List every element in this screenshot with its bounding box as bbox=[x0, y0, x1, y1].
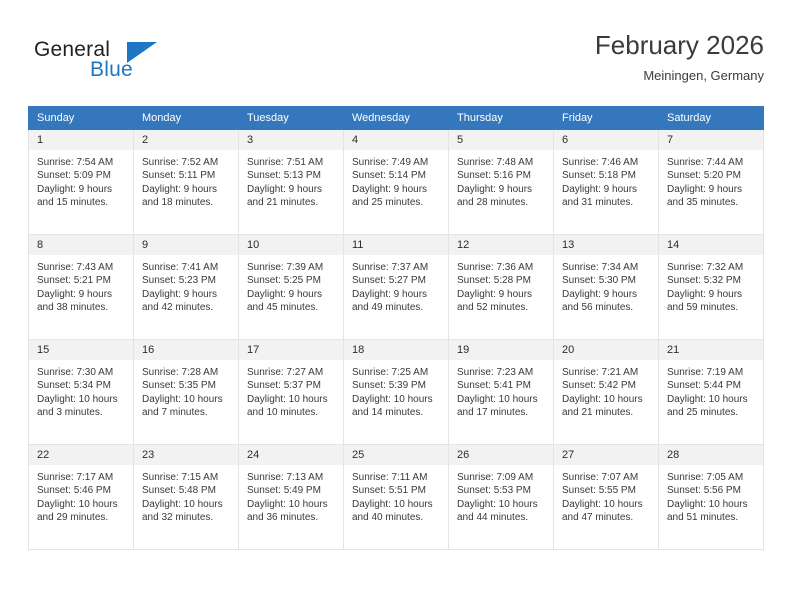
daylight-text-line2: and 38 minutes. bbox=[37, 301, 127, 314]
day-details: Sunrise: 7:09 AM Sunset: 5:53 PM Dayligh… bbox=[449, 465, 553, 525]
sunset-text: Sunset: 5:53 PM bbox=[457, 484, 547, 497]
day-number: 11 bbox=[344, 235, 448, 255]
day-details: Sunrise: 7:11 AM Sunset: 5:51 PM Dayligh… bbox=[344, 465, 448, 525]
daylight-text-line2: and 59 minutes. bbox=[667, 301, 757, 314]
day-cell[interactable]: 22 Sunrise: 7:17 AM Sunset: 5:46 PM Dayl… bbox=[29, 445, 134, 550]
day-cell[interactable]: 20 Sunrise: 7:21 AM Sunset: 5:42 PM Dayl… bbox=[554, 340, 659, 445]
daylight-text-line2: and 47 minutes. bbox=[562, 511, 652, 524]
daylight-text-line1: Daylight: 9 hours bbox=[457, 288, 547, 301]
day-cell[interactable]: 1 Sunrise: 7:54 AM Sunset: 5:09 PM Dayli… bbox=[29, 130, 134, 235]
day-details: Sunrise: 7:36 AM Sunset: 5:28 PM Dayligh… bbox=[449, 255, 553, 315]
sunrise-text: Sunrise: 7:51 AM bbox=[247, 156, 337, 169]
daylight-text-line1: Daylight: 9 hours bbox=[142, 183, 232, 196]
day-details: Sunrise: 7:17 AM Sunset: 5:46 PM Dayligh… bbox=[29, 465, 133, 525]
sunset-text: Sunset: 5:44 PM bbox=[667, 379, 757, 392]
daylight-text-line2: and 32 minutes. bbox=[142, 511, 232, 524]
calendar-header-row: Sunday Monday Tuesday Wednesday Thursday… bbox=[29, 107, 764, 130]
daylight-text-line2: and 42 minutes. bbox=[142, 301, 232, 314]
daylight-text-line2: and 25 minutes. bbox=[667, 406, 757, 419]
weekday-header-sunday: Sunday bbox=[29, 107, 134, 130]
daylight-text-line2: and 31 minutes. bbox=[562, 196, 652, 209]
weekday-header-saturday: Saturday bbox=[659, 107, 764, 130]
day-cell[interactable]: 26 Sunrise: 7:09 AM Sunset: 5:53 PM Dayl… bbox=[449, 445, 554, 550]
daylight-text-line1: Daylight: 10 hours bbox=[247, 498, 337, 511]
day-number: 8 bbox=[29, 235, 133, 255]
day-number: 25 bbox=[344, 445, 448, 465]
day-cell[interactable]: 19 Sunrise: 7:23 AM Sunset: 5:41 PM Dayl… bbox=[449, 340, 554, 445]
day-cell[interactable]: 27 Sunrise: 7:07 AM Sunset: 5:55 PM Dayl… bbox=[554, 445, 659, 550]
sunset-text: Sunset: 5:56 PM bbox=[667, 484, 757, 497]
sunrise-text: Sunrise: 7:09 AM bbox=[457, 471, 547, 484]
daylight-text-line1: Daylight: 9 hours bbox=[247, 288, 337, 301]
sunset-text: Sunset: 5:42 PM bbox=[562, 379, 652, 392]
daylight-text-line2: and 28 minutes. bbox=[457, 196, 547, 209]
day-cell[interactable]: 9 Sunrise: 7:41 AM Sunset: 5:23 PM Dayli… bbox=[134, 235, 239, 340]
sunrise-text: Sunrise: 7:41 AM bbox=[142, 261, 232, 274]
sunset-text: Sunset: 5:25 PM bbox=[247, 274, 337, 287]
day-cell[interactable]: 2 Sunrise: 7:52 AM Sunset: 5:11 PM Dayli… bbox=[134, 130, 239, 235]
day-cell[interactable]: 25 Sunrise: 7:11 AM Sunset: 5:51 PM Dayl… bbox=[344, 445, 449, 550]
weekday-header-monday: Monday bbox=[134, 107, 239, 130]
day-details: Sunrise: 7:39 AM Sunset: 5:25 PM Dayligh… bbox=[239, 255, 343, 315]
calendar-week-row: 22 Sunrise: 7:17 AM Sunset: 5:46 PM Dayl… bbox=[29, 445, 764, 550]
sunset-text: Sunset: 5:51 PM bbox=[352, 484, 442, 497]
page-header: General Blue February 2026 Meiningen, Ge… bbox=[28, 30, 764, 100]
calendar-week-row: 15 Sunrise: 7:30 AM Sunset: 5:34 PM Dayl… bbox=[29, 340, 764, 445]
page-title: February 2026 bbox=[595, 30, 764, 60]
daylight-text-line1: Daylight: 9 hours bbox=[37, 183, 127, 196]
sunset-text: Sunset: 5:11 PM bbox=[142, 169, 232, 182]
day-details: Sunrise: 7:41 AM Sunset: 5:23 PM Dayligh… bbox=[134, 255, 238, 315]
day-cell[interactable]: 24 Sunrise: 7:13 AM Sunset: 5:49 PM Dayl… bbox=[239, 445, 344, 550]
sunrise-text: Sunrise: 7:32 AM bbox=[667, 261, 757, 274]
weekday-header-tuesday: Tuesday bbox=[239, 107, 344, 130]
brand-name-blue: Blue bbox=[90, 58, 133, 82]
calendar-grid: Sunday Monday Tuesday Wednesday Thursday… bbox=[28, 106, 764, 550]
daylight-text-line2: and 51 minutes. bbox=[667, 511, 757, 524]
day-number: 4 bbox=[344, 130, 448, 150]
sunrise-text: Sunrise: 7:13 AM bbox=[247, 471, 337, 484]
sunset-text: Sunset: 5:27 PM bbox=[352, 274, 442, 287]
sunset-text: Sunset: 5:13 PM bbox=[247, 169, 337, 182]
day-cell[interactable]: 8 Sunrise: 7:43 AM Sunset: 5:21 PM Dayli… bbox=[29, 235, 134, 340]
sunrise-text: Sunrise: 7:07 AM bbox=[562, 471, 652, 484]
day-number: 12 bbox=[449, 235, 553, 255]
daylight-text-line2: and 18 minutes. bbox=[142, 196, 232, 209]
daylight-text-line1: Daylight: 9 hours bbox=[352, 183, 442, 196]
day-details: Sunrise: 7:48 AM Sunset: 5:16 PM Dayligh… bbox=[449, 150, 553, 210]
sunrise-text: Sunrise: 7:39 AM bbox=[247, 261, 337, 274]
sunrise-text: Sunrise: 7:52 AM bbox=[142, 156, 232, 169]
day-cell[interactable]: 12 Sunrise: 7:36 AM Sunset: 5:28 PM Dayl… bbox=[449, 235, 554, 340]
daylight-text-line1: Daylight: 9 hours bbox=[247, 183, 337, 196]
daylight-text-line1: Daylight: 10 hours bbox=[247, 393, 337, 406]
day-details: Sunrise: 7:37 AM Sunset: 5:27 PM Dayligh… bbox=[344, 255, 448, 315]
sunset-text: Sunset: 5:34 PM bbox=[37, 379, 127, 392]
day-cell[interactable]: 10 Sunrise: 7:39 AM Sunset: 5:25 PM Dayl… bbox=[239, 235, 344, 340]
day-number: 22 bbox=[29, 445, 133, 465]
day-cell[interactable]: 16 Sunrise: 7:28 AM Sunset: 5:35 PM Dayl… bbox=[134, 340, 239, 445]
daylight-text-line2: and 52 minutes. bbox=[457, 301, 547, 314]
sunrise-text: Sunrise: 7:05 AM bbox=[667, 471, 757, 484]
day-number: 7 bbox=[659, 130, 763, 150]
day-details: Sunrise: 7:25 AM Sunset: 5:39 PM Dayligh… bbox=[344, 360, 448, 420]
daylight-text-line2: and 17 minutes. bbox=[457, 406, 547, 419]
daylight-text-line2: and 45 minutes. bbox=[247, 301, 337, 314]
weekday-header-thursday: Thursday bbox=[449, 107, 554, 130]
weekday-header-wednesday: Wednesday bbox=[344, 107, 449, 130]
day-details: Sunrise: 7:51 AM Sunset: 5:13 PM Dayligh… bbox=[239, 150, 343, 210]
title-block: February 2026 Meiningen, Germany bbox=[595, 30, 764, 84]
day-number: 24 bbox=[239, 445, 343, 465]
sunset-text: Sunset: 5:46 PM bbox=[37, 484, 127, 497]
daylight-text-line1: Daylight: 9 hours bbox=[142, 288, 232, 301]
day-details: Sunrise: 7:54 AM Sunset: 5:09 PM Dayligh… bbox=[29, 150, 133, 210]
daylight-text-line2: and 35 minutes. bbox=[667, 196, 757, 209]
daylight-text-line2: and 14 minutes. bbox=[352, 406, 442, 419]
day-details: Sunrise: 7:30 AM Sunset: 5:34 PM Dayligh… bbox=[29, 360, 133, 420]
day-cell[interactable]: 3 Sunrise: 7:51 AM Sunset: 5:13 PM Dayli… bbox=[239, 130, 344, 235]
daylight-text-line2: and 44 minutes. bbox=[457, 511, 547, 524]
daylight-text-line2: and 25 minutes. bbox=[352, 196, 442, 209]
day-details: Sunrise: 7:15 AM Sunset: 5:48 PM Dayligh… bbox=[134, 465, 238, 525]
day-details: Sunrise: 7:23 AM Sunset: 5:41 PM Dayligh… bbox=[449, 360, 553, 420]
day-number: 2 bbox=[134, 130, 238, 150]
daylight-text-line1: Daylight: 10 hours bbox=[352, 393, 442, 406]
daylight-text-line1: Daylight: 10 hours bbox=[562, 498, 652, 511]
calendar-week-row: 1 Sunrise: 7:54 AM Sunset: 5:09 PM Dayli… bbox=[29, 130, 764, 235]
day-number: 10 bbox=[239, 235, 343, 255]
day-number: 13 bbox=[554, 235, 658, 255]
calendar-page: General Blue February 2026 Meiningen, Ge… bbox=[0, 0, 792, 612]
sunset-text: Sunset: 5:18 PM bbox=[562, 169, 652, 182]
daylight-text-line1: Daylight: 9 hours bbox=[352, 288, 442, 301]
day-details: Sunrise: 7:46 AM Sunset: 5:18 PM Dayligh… bbox=[554, 150, 658, 210]
sunrise-text: Sunrise: 7:19 AM bbox=[667, 366, 757, 379]
day-number: 16 bbox=[134, 340, 238, 360]
calendar-week-row: 8 Sunrise: 7:43 AM Sunset: 5:21 PM Dayli… bbox=[29, 235, 764, 340]
day-details: Sunrise: 7:32 AM Sunset: 5:32 PM Dayligh… bbox=[659, 255, 763, 315]
daylight-text-line2: and 3 minutes. bbox=[37, 406, 127, 419]
day-cell[interactable]: 23 Sunrise: 7:15 AM Sunset: 5:48 PM Dayl… bbox=[134, 445, 239, 550]
daylight-text-line2: and 21 minutes. bbox=[247, 196, 337, 209]
day-details: Sunrise: 7:07 AM Sunset: 5:55 PM Dayligh… bbox=[554, 465, 658, 525]
sunrise-text: Sunrise: 7:34 AM bbox=[562, 261, 652, 274]
day-cell[interactable]: 17 Sunrise: 7:27 AM Sunset: 5:37 PM Dayl… bbox=[239, 340, 344, 445]
day-cell[interactable]: 28 Sunrise: 7:05 AM Sunset: 5:56 PM Dayl… bbox=[659, 445, 764, 550]
daylight-text-line2: and 29 minutes. bbox=[37, 511, 127, 524]
day-number: 5 bbox=[449, 130, 553, 150]
sunrise-text: Sunrise: 7:46 AM bbox=[562, 156, 652, 169]
sunset-text: Sunset: 5:35 PM bbox=[142, 379, 232, 392]
day-details: Sunrise: 7:19 AM Sunset: 5:44 PM Dayligh… bbox=[659, 360, 763, 420]
day-details: Sunrise: 7:28 AM Sunset: 5:35 PM Dayligh… bbox=[134, 360, 238, 420]
day-number: 18 bbox=[344, 340, 448, 360]
day-number: 21 bbox=[659, 340, 763, 360]
daylight-text-line1: Daylight: 10 hours bbox=[142, 498, 232, 511]
day-details: Sunrise: 7:27 AM Sunset: 5:37 PM Dayligh… bbox=[239, 360, 343, 420]
sunrise-text: Sunrise: 7:25 AM bbox=[352, 366, 442, 379]
day-number: 27 bbox=[554, 445, 658, 465]
day-cell[interactable]: 11 Sunrise: 7:37 AM Sunset: 5:27 PM Dayl… bbox=[344, 235, 449, 340]
daylight-text-line2: and 7 minutes. bbox=[142, 406, 232, 419]
sunrise-text: Sunrise: 7:54 AM bbox=[37, 156, 127, 169]
sunset-text: Sunset: 5:28 PM bbox=[457, 274, 547, 287]
sunrise-text: Sunrise: 7:30 AM bbox=[37, 366, 127, 379]
sunrise-text: Sunrise: 7:48 AM bbox=[457, 156, 547, 169]
sunrise-text: Sunrise: 7:17 AM bbox=[37, 471, 127, 484]
sunrise-text: Sunrise: 7:23 AM bbox=[457, 366, 547, 379]
brand-logo[interactable]: General Blue bbox=[28, 38, 248, 94]
daylight-text-line2: and 36 minutes. bbox=[247, 511, 337, 524]
sunset-text: Sunset: 5:32 PM bbox=[667, 274, 757, 287]
day-number: 26 bbox=[449, 445, 553, 465]
daylight-text-line2: and 21 minutes. bbox=[562, 406, 652, 419]
page-subtitle: Meiningen, Germany bbox=[595, 68, 764, 84]
sunrise-text: Sunrise: 7:27 AM bbox=[247, 366, 337, 379]
daylight-text-line1: Daylight: 10 hours bbox=[142, 393, 232, 406]
daylight-text-line2: and 56 minutes. bbox=[562, 301, 652, 314]
day-number: 15 bbox=[29, 340, 133, 360]
day-number: 3 bbox=[239, 130, 343, 150]
daylight-text-line1: Daylight: 10 hours bbox=[562, 393, 652, 406]
daylight-text-line1: Daylight: 9 hours bbox=[457, 183, 547, 196]
day-cell[interactable]: 18 Sunrise: 7:25 AM Sunset: 5:39 PM Dayl… bbox=[344, 340, 449, 445]
day-number: 20 bbox=[554, 340, 658, 360]
sunset-text: Sunset: 5:21 PM bbox=[37, 274, 127, 287]
daylight-text-line1: Daylight: 10 hours bbox=[37, 498, 127, 511]
sunrise-text: Sunrise: 7:15 AM bbox=[142, 471, 232, 484]
sunrise-text: Sunrise: 7:44 AM bbox=[667, 156, 757, 169]
sunset-text: Sunset: 5:41 PM bbox=[457, 379, 547, 392]
daylight-text-line1: Daylight: 10 hours bbox=[457, 498, 547, 511]
day-details: Sunrise: 7:05 AM Sunset: 5:56 PM Dayligh… bbox=[659, 465, 763, 525]
daylight-text-line1: Daylight: 10 hours bbox=[457, 393, 547, 406]
sunrise-text: Sunrise: 7:37 AM bbox=[352, 261, 442, 274]
day-number: 1 bbox=[29, 130, 133, 150]
daylight-text-line1: Daylight: 10 hours bbox=[37, 393, 127, 406]
sunset-text: Sunset: 5:37 PM bbox=[247, 379, 337, 392]
sunrise-text: Sunrise: 7:43 AM bbox=[37, 261, 127, 274]
sunset-text: Sunset: 5:23 PM bbox=[142, 274, 232, 287]
daylight-text-line1: Daylight: 10 hours bbox=[352, 498, 442, 511]
day-number: 17 bbox=[239, 340, 343, 360]
sunrise-text: Sunrise: 7:11 AM bbox=[352, 471, 442, 484]
day-number: 9 bbox=[134, 235, 238, 255]
day-cell[interactable]: 7 Sunrise: 7:44 AM Sunset: 5:20 PM Dayli… bbox=[659, 130, 764, 235]
daylight-text-line2: and 15 minutes. bbox=[37, 196, 127, 209]
daylight-text-line1: Daylight: 9 hours bbox=[562, 183, 652, 196]
sunset-text: Sunset: 5:49 PM bbox=[247, 484, 337, 497]
sunrise-text: Sunrise: 7:36 AM bbox=[457, 261, 547, 274]
day-cell[interactable]: 15 Sunrise: 7:30 AM Sunset: 5:34 PM Dayl… bbox=[29, 340, 134, 445]
daylight-text-line1: Daylight: 9 hours bbox=[562, 288, 652, 301]
day-cell[interactable]: 4 Sunrise: 7:49 AM Sunset: 5:14 PM Dayli… bbox=[344, 130, 449, 235]
day-details: Sunrise: 7:13 AM Sunset: 5:49 PM Dayligh… bbox=[239, 465, 343, 525]
sunset-text: Sunset: 5:14 PM bbox=[352, 169, 442, 182]
calendar-body: 1 Sunrise: 7:54 AM Sunset: 5:09 PM Dayli… bbox=[29, 130, 764, 550]
day-cell[interactable]: 6 Sunrise: 7:46 AM Sunset: 5:18 PM Dayli… bbox=[554, 130, 659, 235]
daylight-text-line2: and 40 minutes. bbox=[352, 511, 442, 524]
daylight-text-line1: Daylight: 10 hours bbox=[667, 393, 757, 406]
day-cell[interactable]: 21 Sunrise: 7:19 AM Sunset: 5:44 PM Dayl… bbox=[659, 340, 764, 445]
sunset-text: Sunset: 5:09 PM bbox=[37, 169, 127, 182]
day-number: 14 bbox=[659, 235, 763, 255]
day-number: 19 bbox=[449, 340, 553, 360]
daylight-text-line2: and 10 minutes. bbox=[247, 406, 337, 419]
day-cell[interactable]: 13 Sunrise: 7:34 AM Sunset: 5:30 PM Dayl… bbox=[554, 235, 659, 340]
daylight-text-line1: Daylight: 9 hours bbox=[667, 288, 757, 301]
day-details: Sunrise: 7:21 AM Sunset: 5:42 PM Dayligh… bbox=[554, 360, 658, 420]
day-number: 28 bbox=[659, 445, 763, 465]
sunset-text: Sunset: 5:39 PM bbox=[352, 379, 442, 392]
day-details: Sunrise: 7:44 AM Sunset: 5:20 PM Dayligh… bbox=[659, 150, 763, 210]
day-number: 23 bbox=[134, 445, 238, 465]
day-details: Sunrise: 7:52 AM Sunset: 5:11 PM Dayligh… bbox=[134, 150, 238, 210]
daylight-text-line1: Daylight: 9 hours bbox=[37, 288, 127, 301]
daylight-text-line2: and 49 minutes. bbox=[352, 301, 442, 314]
sunrise-text: Sunrise: 7:49 AM bbox=[352, 156, 442, 169]
sunset-text: Sunset: 5:55 PM bbox=[562, 484, 652, 497]
sunrise-text: Sunrise: 7:28 AM bbox=[142, 366, 232, 379]
sunset-text: Sunset: 5:48 PM bbox=[142, 484, 232, 497]
day-cell[interactable]: 14 Sunrise: 7:32 AM Sunset: 5:32 PM Dayl… bbox=[659, 235, 764, 340]
day-details: Sunrise: 7:49 AM Sunset: 5:14 PM Dayligh… bbox=[344, 150, 448, 210]
sunset-text: Sunset: 5:30 PM bbox=[562, 274, 652, 287]
weekday-header-friday: Friday bbox=[554, 107, 659, 130]
day-details: Sunrise: 7:43 AM Sunset: 5:21 PM Dayligh… bbox=[29, 255, 133, 315]
day-cell[interactable]: 5 Sunrise: 7:48 AM Sunset: 5:16 PM Dayli… bbox=[449, 130, 554, 235]
daylight-text-line1: Daylight: 10 hours bbox=[667, 498, 757, 511]
daylight-text-line1: Daylight: 9 hours bbox=[667, 183, 757, 196]
day-number: 6 bbox=[554, 130, 658, 150]
sunrise-text: Sunrise: 7:21 AM bbox=[562, 366, 652, 379]
sunset-text: Sunset: 5:20 PM bbox=[667, 169, 757, 182]
day-details: Sunrise: 7:34 AM Sunset: 5:30 PM Dayligh… bbox=[554, 255, 658, 315]
sunset-text: Sunset: 5:16 PM bbox=[457, 169, 547, 182]
